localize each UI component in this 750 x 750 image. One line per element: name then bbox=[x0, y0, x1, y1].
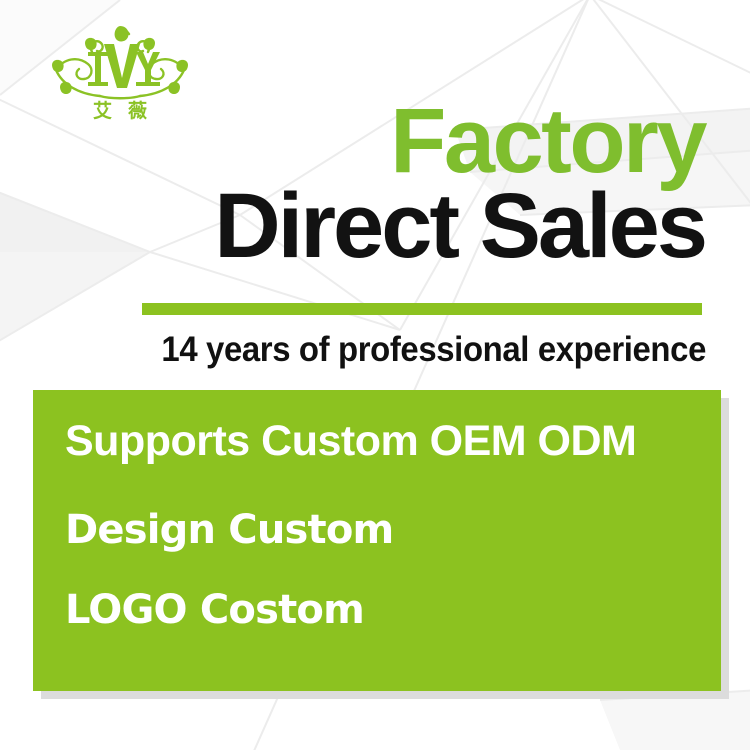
leaf-far-left bbox=[52, 60, 64, 72]
headline-direct-sales: Direct Sales bbox=[0, 180, 705, 272]
letter-Y bbox=[136, 52, 160, 86]
leaf-top-center bbox=[115, 26, 129, 41]
green-divider-rule bbox=[142, 303, 702, 315]
headline-factory: Factory bbox=[0, 96, 705, 186]
leaf-left-upper bbox=[85, 38, 97, 50]
bg-shape-bottom-right bbox=[600, 690, 750, 750]
leaf-right-upper bbox=[143, 38, 155, 50]
leaf-far-right bbox=[176, 60, 188, 72]
leaf-lower-left bbox=[60, 82, 72, 94]
bg-line-5 bbox=[590, 0, 750, 75]
panel-line-design-custom: Design Custom bbox=[65, 510, 721, 550]
panel-line-logo-custom: LOGO Costom bbox=[65, 590, 721, 630]
headline-block: Factory Direct Sales bbox=[0, 96, 705, 272]
letter-V bbox=[104, 44, 140, 88]
leaf-lower-right bbox=[168, 82, 180, 94]
promo-banner: 艾薇 Factory Direct Sales 14 years of prof… bbox=[0, 0, 750, 750]
panel-line-oem-odm: Supports Custom OEM ODM bbox=[65, 420, 721, 463]
ivy-monogram-icon bbox=[44, 22, 196, 104]
services-panel: Supports Custom OEM ODM Design Custom LO… bbox=[33, 390, 721, 691]
experience-tagline: 14 years of professional experience bbox=[42, 330, 706, 370]
